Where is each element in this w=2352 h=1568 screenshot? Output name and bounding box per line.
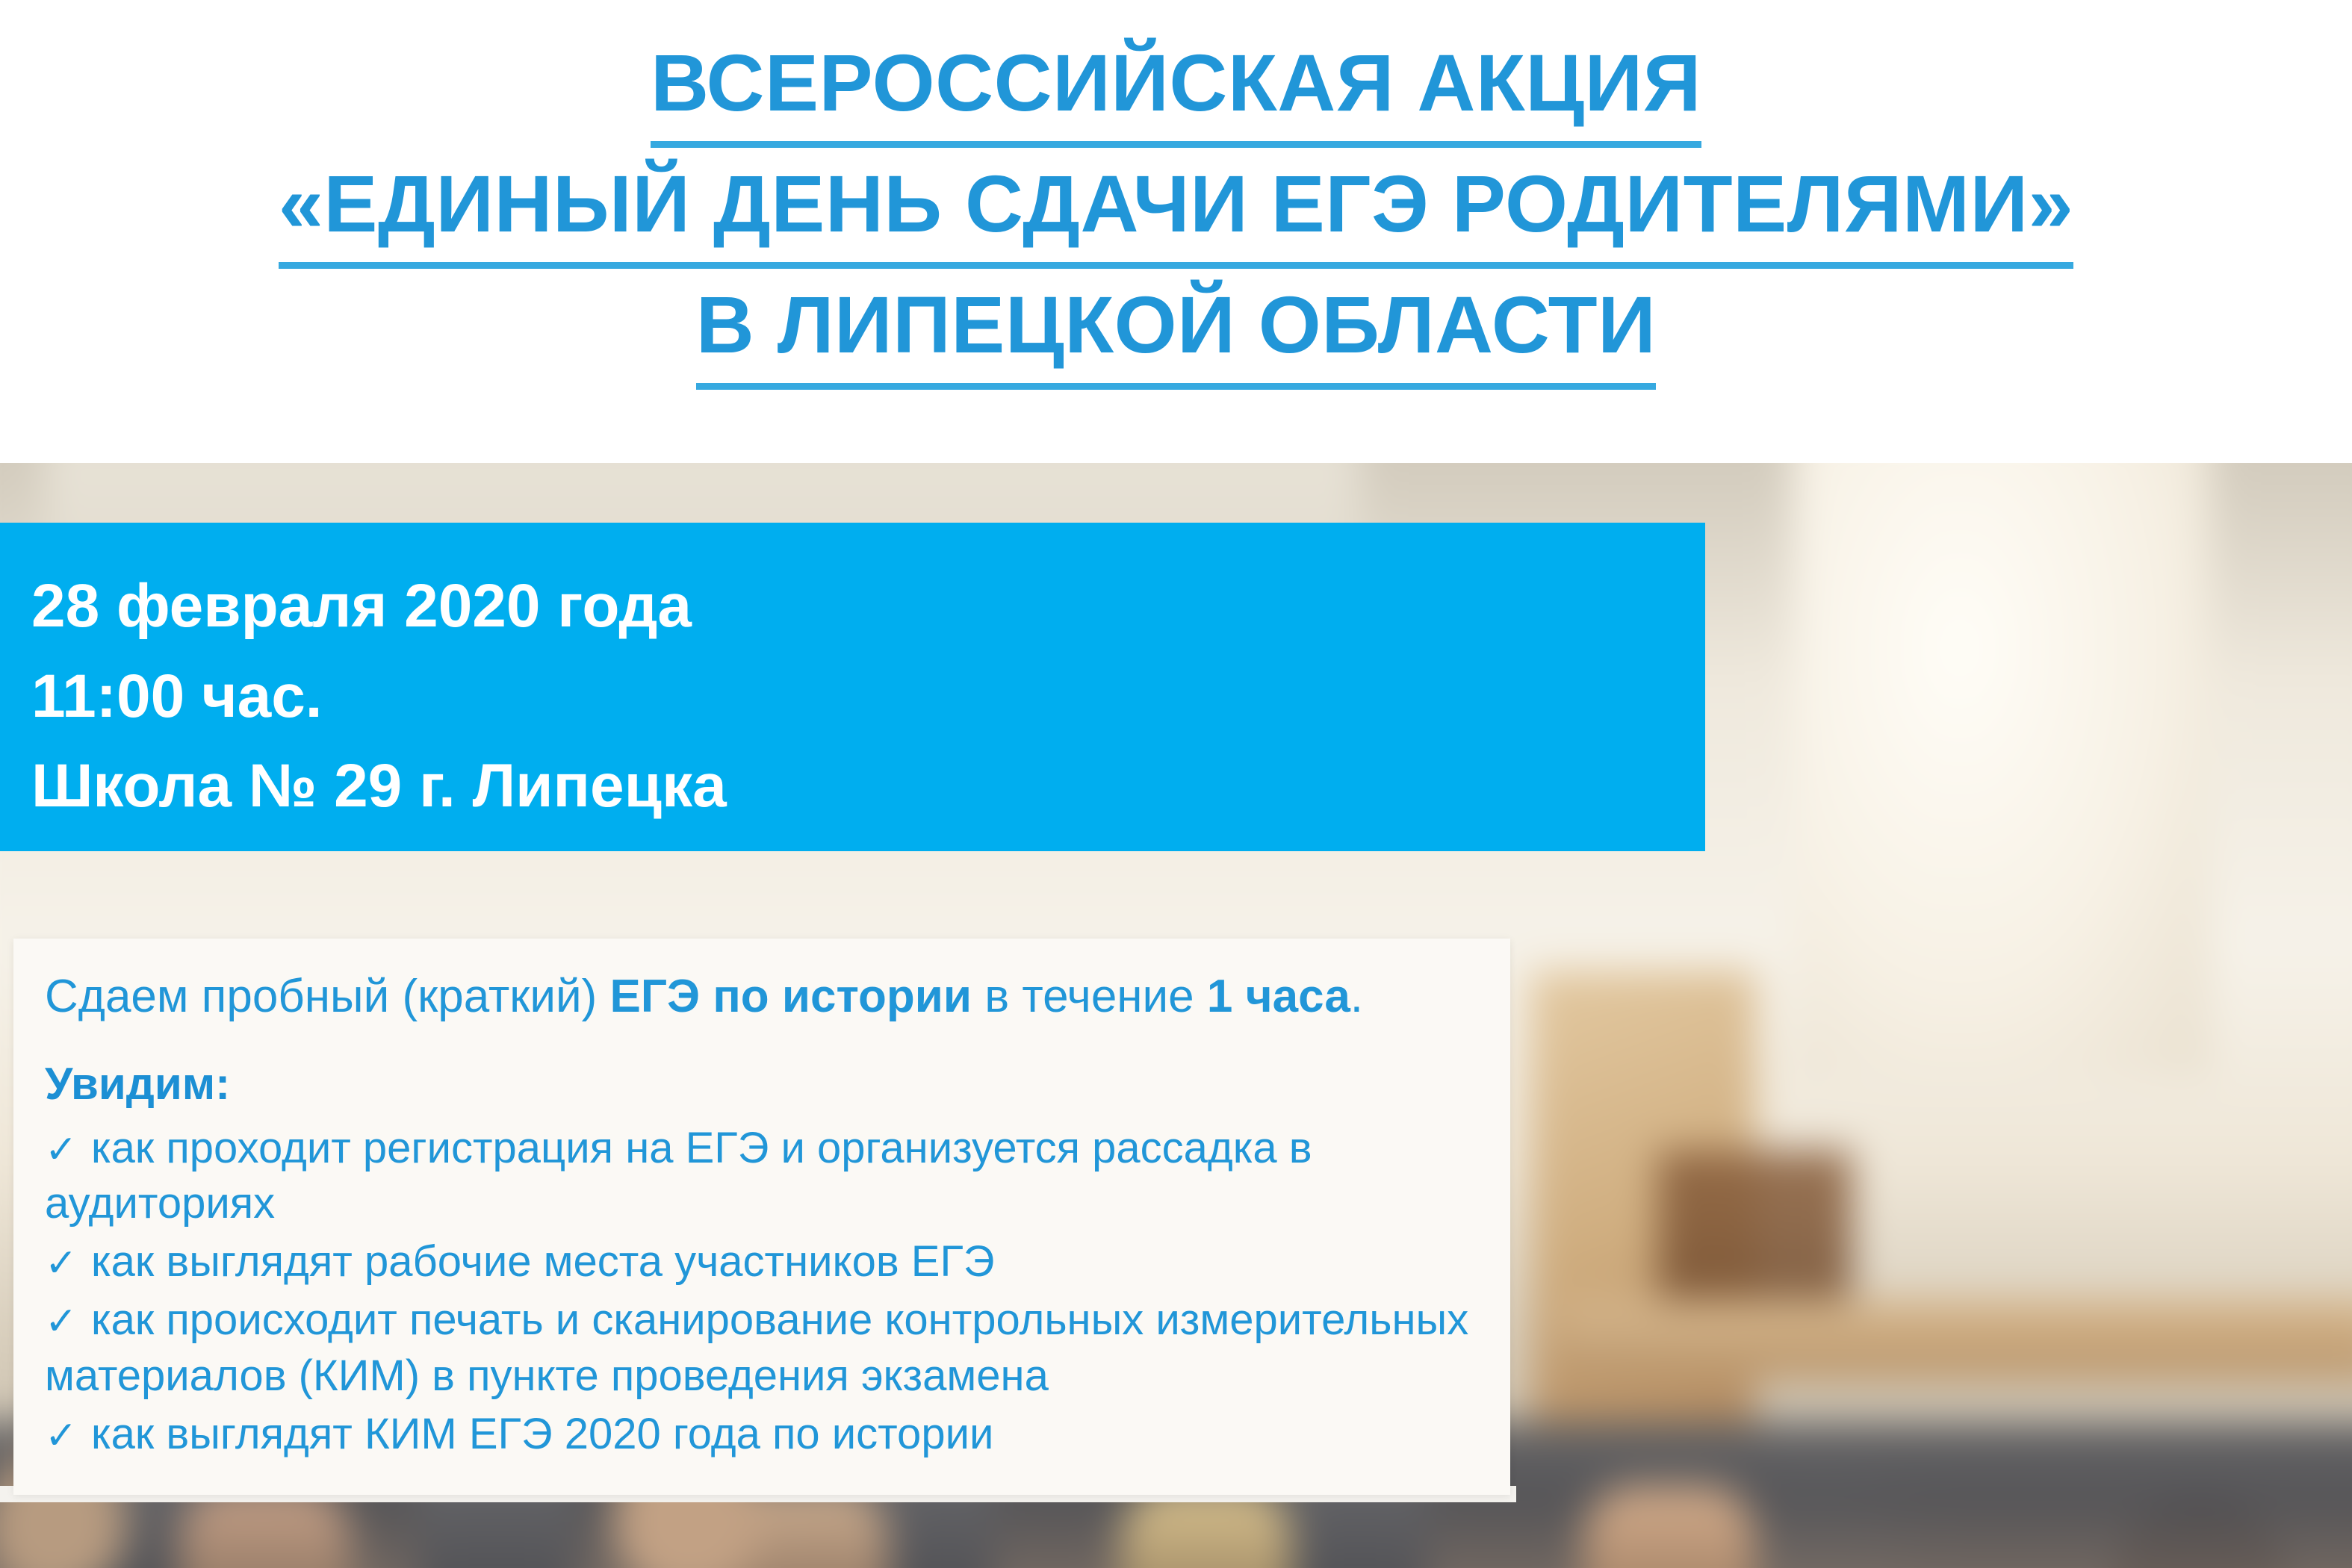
title-line-1-text: ВСЕРОССИЙСКАЯ АКЦИЯ xyxy=(651,27,1701,148)
lead-part-3: . xyxy=(1350,971,1363,1022)
bullets-heading: Увидим: xyxy=(45,1060,1510,1109)
event-details-banner: 28 февраля 2020 года 11:00 час. Школа № … xyxy=(0,523,1705,851)
title-line-1: ВСЕРОССИЙСКАЯ АКЦИЯ xyxy=(0,27,2352,148)
list-item: ✓как выглядят КИМ ЕГЭ 2020 года по истор… xyxy=(45,1407,1510,1462)
title-line-2-text: «ЕДИНЫЙ ДЕНЬ СДАЧИ ЕГЭ РОДИТЕЛЯМИ» xyxy=(279,148,2073,269)
check-icon: ✓ xyxy=(45,1411,91,1461)
list-item-label: как происходит печать и сканирование кон… xyxy=(45,1295,1468,1399)
list-item-label: как выглядят рабочие места участников ЕГ… xyxy=(91,1237,995,1286)
lead-bold-duration: 1 часа xyxy=(1207,971,1350,1022)
info-card: Сдаем пробный (краткий) ЕГЭ по истории в… xyxy=(13,939,1510,1495)
list-item: ✓как выглядят рабочие места участников Е… xyxy=(45,1234,1510,1289)
lead-bold-subject: ЕГЭ по истории xyxy=(610,971,972,1022)
title-line-2: «ЕДИНЫЙ ДЕНЬ СДАЧИ ЕГЭ РОДИТЕЛЯМИ» xyxy=(0,148,2352,269)
bullets-list: ✓как проходит регистрация на ЕГЭ и орган… xyxy=(45,1121,1510,1462)
photo-desk xyxy=(1561,1299,2352,1381)
title-line-3-text: В ЛИПЕЦКОЙ ОБЛАСТИ xyxy=(696,269,1656,390)
event-date: 28 февраля 2020 года xyxy=(31,561,1705,652)
lead-paragraph: Сдаем пробный (краткий) ЕГЭ по истории в… xyxy=(45,968,1510,1025)
page-title: ВСЕРОССИЙСКАЯ АКЦИЯ «ЕДИНЫЙ ДЕНЬ СДАЧИ Е… xyxy=(0,27,2352,390)
check-icon: ✓ xyxy=(45,1297,91,1347)
event-time: 11:00 час. xyxy=(31,652,1705,742)
check-icon: ✓ xyxy=(45,1239,91,1289)
list-item-label: как проходит регистрация на ЕГЭ и органи… xyxy=(45,1124,1312,1228)
list-item: ✓как проходит регистрация на ЕГЭ и орган… xyxy=(45,1121,1510,1231)
poster: ВСЕРОССИЙСКАЯ АКЦИЯ «ЕДИНЫЙ ДЕНЬ СДАЧИ Е… xyxy=(0,0,2352,1568)
photo-row-shoulder xyxy=(1583,1486,1755,1568)
lead-part-1: Сдаем пробный (краткий) xyxy=(45,971,610,1022)
event-place: Школа № 29 г. Липецка xyxy=(31,741,1705,832)
lead-part-2: в течение xyxy=(972,971,1207,1022)
photo-window-light xyxy=(1793,463,2211,1075)
list-item: ✓как происходит печать и сканирование ко… xyxy=(45,1292,1510,1403)
poster-header: ВСЕРОССИЙСКАЯ АКЦИЯ «ЕДИНЫЙ ДЕНЬ СДАЧИ Е… xyxy=(0,0,2352,463)
title-line-3: В ЛИПЕЦКОЙ ОБЛАСТИ xyxy=(0,269,2352,390)
list-item-label: как выглядят КИМ ЕГЭ 2020 года по истори… xyxy=(91,1410,993,1458)
check-icon: ✓ xyxy=(45,1125,91,1175)
